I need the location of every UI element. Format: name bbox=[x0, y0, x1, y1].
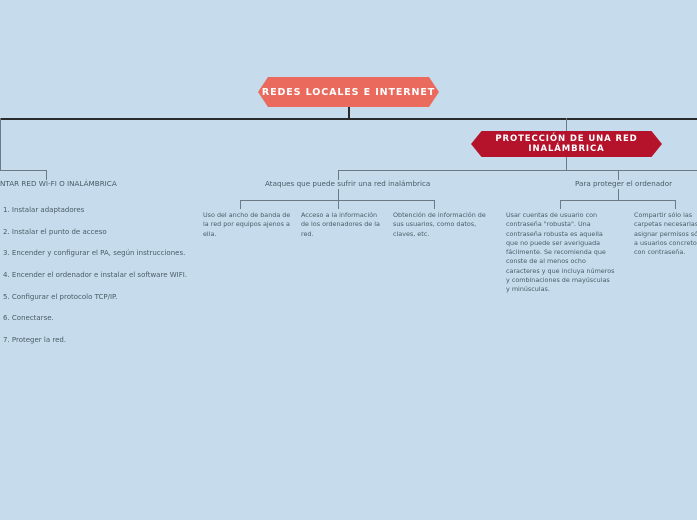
connector-ataques-stem bbox=[338, 189, 339, 200]
connector-left-branch-bracket bbox=[0, 170, 47, 171]
connector-proteger-item1-tick bbox=[560, 200, 561, 209]
proteger-item-2: Compartir sólo las carpetas necesarias y… bbox=[634, 211, 697, 257]
root-node-redes-locales-e-internet[interactable]: REDES LOCALES E INTERNET bbox=[258, 77, 439, 107]
step-item-5: 5. Configurar el protocolo TCP/IP. bbox=[3, 293, 198, 301]
connector-proteccion-stem bbox=[566, 118, 567, 131]
node-proteccion-label: PROTECCIÓN DE UNA RED INALÁMBRICA bbox=[471, 134, 662, 154]
child-label-para-proteger-ordenador: Para proteger el ordenador bbox=[575, 179, 672, 188]
step-item-4: 4. Encender el ordenador e instalar el s… bbox=[3, 271, 198, 279]
ataques-item-3: Obtención de información de sus usuarios… bbox=[393, 211, 487, 239]
connector-ataques-item2-tick bbox=[338, 200, 339, 209]
connector-proteger-items-bracket bbox=[560, 200, 676, 201]
connector-ataques-item3-tick bbox=[434, 200, 435, 209]
connector-proteccion-drop bbox=[566, 157, 567, 170]
branch-label-montar-red-wifi: NTAR RED WI-FI O INALÁMBRICA bbox=[0, 179, 117, 188]
step-item-6: 6. Conectarse. bbox=[3, 314, 198, 322]
node-proteccion-de-una-red-inalambrica[interactable]: PROTECCIÓN DE UNA RED INALÁMBRICA bbox=[471, 131, 662, 157]
child-label-ataques-red-inalambrica: Ataques que puede sufrir una red inalámb… bbox=[265, 179, 430, 188]
connector-proteger-item2-tick bbox=[675, 200, 676, 209]
steps-list: 1. Instalar adaptadores 2. Instalar el p… bbox=[3, 206, 198, 358]
mindmap-canvas: REDES LOCALES E INTERNET NTAR RED WI-FI … bbox=[0, 0, 697, 520]
proteger-item-1: Usar cuentas de usuario con contraseña "… bbox=[506, 211, 615, 295]
connector-ataques-item1-tick bbox=[240, 200, 241, 209]
ataques-item-2: Acceso a la información de los ordenador… bbox=[301, 211, 383, 239]
step-item-2: 2. Instalar el punto de acceso bbox=[3, 228, 198, 236]
step-item-1: 1. Instalar adaptadores bbox=[3, 206, 198, 214]
ataques-item-1: Uso del ancho de banda de la red por equ… bbox=[203, 211, 293, 239]
step-item-7: 7. Proteger la red. bbox=[3, 336, 198, 344]
connector-proteger-stem bbox=[618, 189, 619, 200]
root-node-label: REDES LOCALES E INTERNET bbox=[262, 87, 435, 98]
step-item-3: 3. Encender y configurar el PA, según in… bbox=[3, 249, 198, 257]
connector-main-spine bbox=[0, 118, 697, 120]
connector-root-stem bbox=[348, 107, 350, 118]
connector-proteccion-children-bracket bbox=[338, 170, 697, 171]
connector-left-branch-drop bbox=[0, 118, 1, 170]
